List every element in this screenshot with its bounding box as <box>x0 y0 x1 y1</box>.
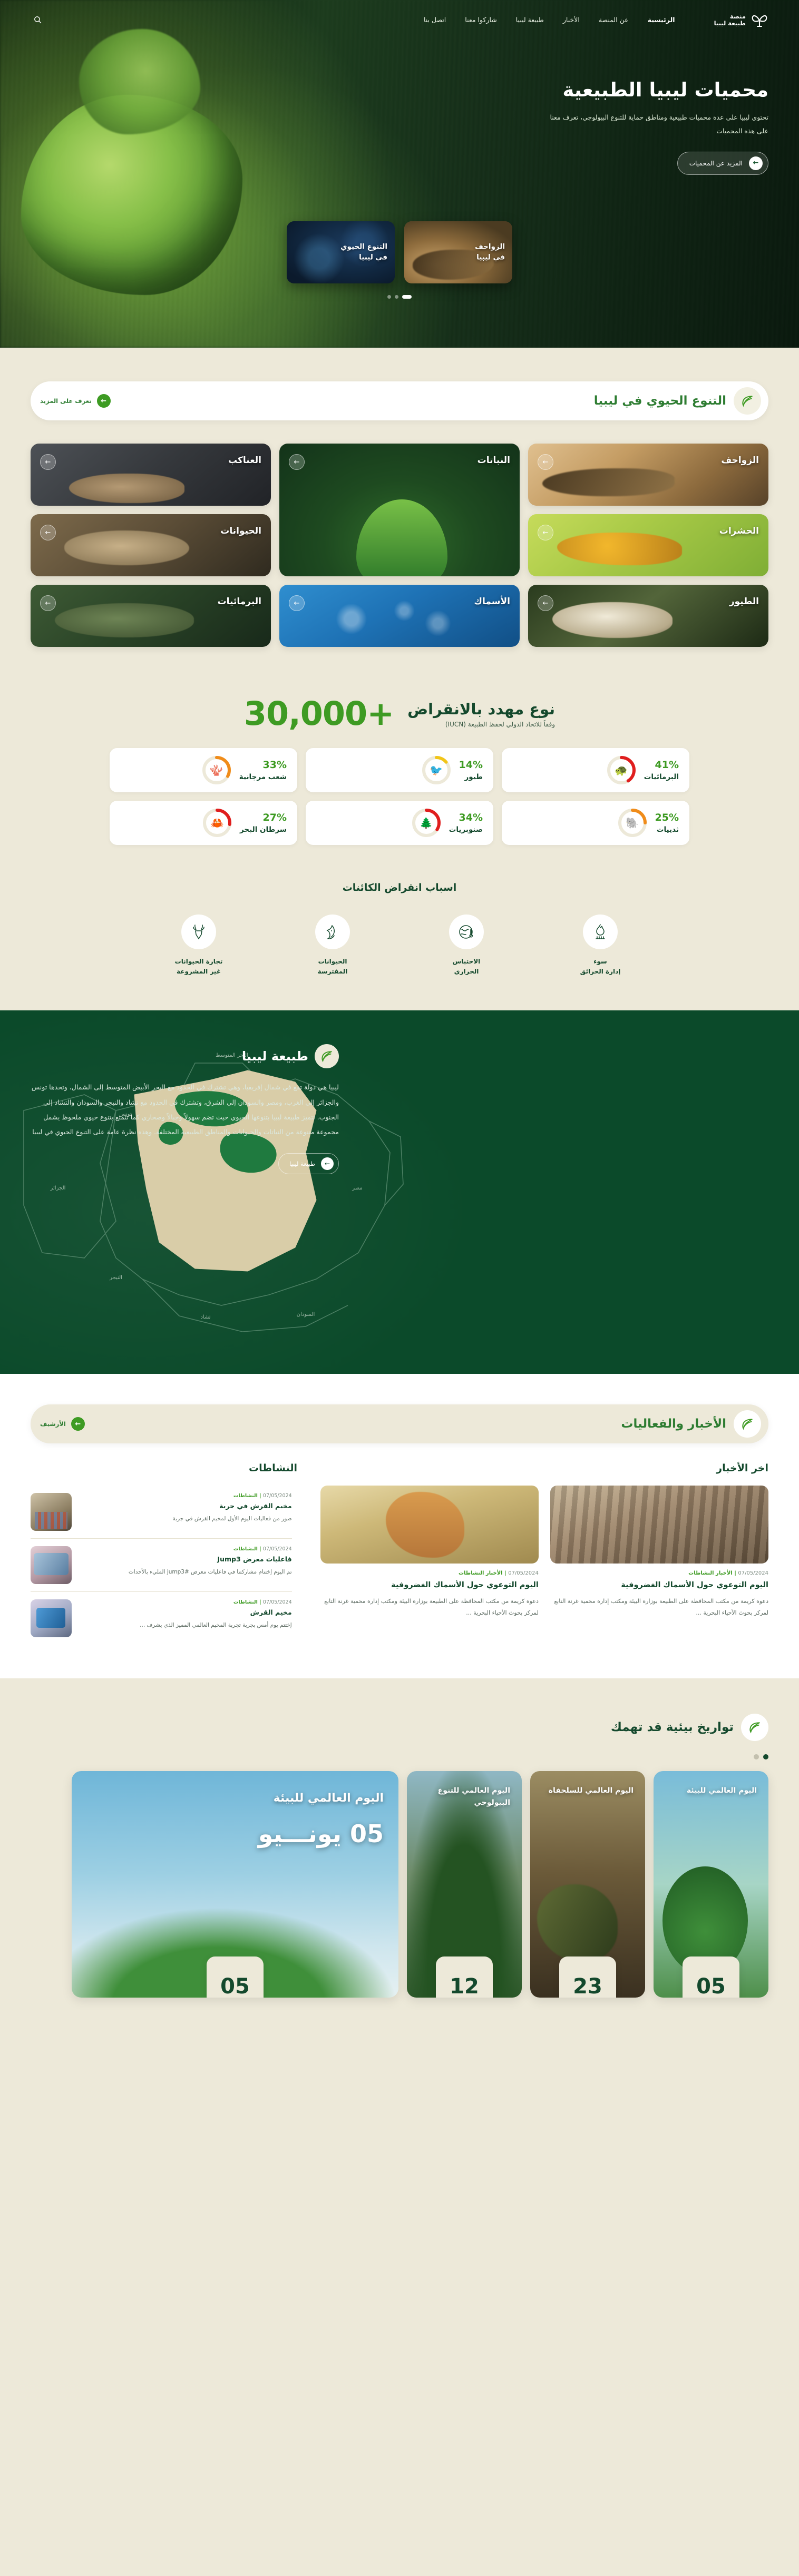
stat-pct-conifers: 34% <box>449 811 483 825</box>
map-label-egypt: مصر <box>352 1185 363 1191</box>
fire-icon <box>583 915 618 949</box>
stat-card-coral[interactable]: 🪸 33% شعب مرجانية <box>110 748 297 792</box>
news-title: الأخبار والفعاليات <box>621 1417 726 1431</box>
brand-text: منصة طبيعة ليبيا <box>714 13 746 27</box>
dates-title: تواريخ بيئية قد تهمك <box>611 1720 734 1734</box>
stat-label-coral: شعب مرجانية <box>239 772 287 782</box>
cause-fire-line1: سوء <box>593 958 607 965</box>
activity-item-2-body: 07/05/2024 | النشاطات فاعليات معرض Jump3… <box>79 1546 292 1584</box>
hero-card-reptiles-line2: في ليبيا <box>476 253 505 261</box>
map-label-niger: النيجر <box>109 1275 122 1281</box>
stat-text-mammals: 25% ثدييات <box>655 811 679 834</box>
bio-card-spiders-image <box>31 444 271 506</box>
news-archive-cta[interactable]: ← الأرشيف <box>40 1417 85 1431</box>
cause-illegal-trade[interactable]: تجارة الحيوانات غير المشروعة <box>159 915 238 977</box>
date-card-2-title: اليوم العالمي للتنوع البيولوجي <box>407 1785 510 1808</box>
arrow-left-icon[interactable]: ← <box>538 595 553 611</box>
bio-card-amphibians[interactable]: البرمائيات ← <box>31 585 271 647</box>
news-card-2[interactable]: 07/05/2024 | الأخبار النشاطات اليوم التو… <box>320 1486 539 1645</box>
news-cards: 07/05/2024 | الأخبار النشاطات اليوم التو… <box>320 1486 768 1645</box>
nav-item-participate[interactable]: شاركوا معنا <box>465 16 496 24</box>
extinction-causes-section: اسباب انقراض الكائنات سوء إدارة الحرائق <box>0 866 799 1010</box>
bio-card-spiders[interactable]: العناكب ← <box>31 444 271 506</box>
stat-text-conifers: 34% صنوبريات <box>449 811 483 834</box>
main-navigation: منصة طبيعة ليبيا الرئيسية عن المنصة الأخ… <box>0 0 799 40</box>
arrow-left-icon[interactable]: ← <box>538 525 553 540</box>
gauge-mammals: 🐘 <box>617 808 648 838</box>
cause-trade-line2: غير المشروعة <box>177 968 221 975</box>
bio-card-reptiles-image <box>528 444 768 506</box>
arrow-left-icon: ← <box>71 1417 85 1431</box>
stat-label-mammals: ثدييات <box>655 825 679 834</box>
news-card-1-category: الأخبار النشاطات <box>688 1570 733 1576</box>
dates-header-wrap: تواريخ بيئية قد تهمك <box>0 1708 799 1752</box>
biodiversity-cta-label: تعرف على المزيد <box>40 397 92 405</box>
leaf-icon <box>734 387 761 415</box>
date-card-2-day: 12 <box>450 1976 479 1997</box>
bio-card-birds[interactable]: الطيور ← <box>528 585 768 647</box>
hero-card-reptiles-label: الزواحف في ليبيا <box>475 242 505 262</box>
hero-subtitle: تحتوي ليبيا على عدة محميات طبيعية ومناطق… <box>542 111 768 137</box>
date-card-4-title: اليوم العالمي للبيئة <box>687 1785 757 1796</box>
stat-card-birds[interactable]: 🐦 14% طيور <box>306 748 493 792</box>
date-card-4-day: 05 <box>696 1976 726 1997</box>
map-label-chad: تشاد <box>200 1314 210 1320</box>
cause-trade-line1: تجارة الحيوانات <box>175 958 223 965</box>
environmental-dates-section: تواريخ بيئية قد تهمك اليوم العالمي للبيئ… <box>0 1678 799 2046</box>
cause-fire-line2: إدارة الحرائق <box>580 968 621 975</box>
bio-card-animals-image <box>31 514 271 576</box>
stat-pct-birds: 14% <box>459 759 483 772</box>
activity-item-2-title: فاعليات معرض Jump3 <box>79 1555 292 1564</box>
causes-title: اسباب انقراض الكائنات <box>31 882 768 893</box>
activity-item-1-body: 07/05/2024 | النشاطات مخيم القرش في جربة… <box>79 1493 292 1531</box>
biodiversity-title: التنوع الحيوي في ليبيا <box>594 394 726 408</box>
activity-item-2-meta: 07/05/2024 | النشاطات <box>79 1546 292 1552</box>
hero-card-reptiles[interactable]: الزواحف في ليبيا <box>404 221 512 283</box>
stat-label-conifers: صنوبريات <box>449 825 483 834</box>
hero-mini-cards: الزواحف في ليبيا التنوع الحيوي في ليبيا <box>287 221 512 283</box>
activity-item-1-date: 07/05/2024 <box>263 1493 292 1499</box>
cause-trade-label: تجارة الحيوانات غير المشروعة <box>175 957 223 977</box>
activity-item-2-date: 07/05/2024 <box>263 1546 292 1552</box>
bird-icon: 🐦 <box>421 755 452 785</box>
map-label-sudan: السودان <box>297 1312 315 1318</box>
news-col-latest: اخر الأخبار <box>311 1462 768 1474</box>
activity-item-3-category: النشاطات <box>233 1599 258 1605</box>
date-card-3[interactable]: اليوم العالمي للسلحفاة 23 مايو <box>530 1771 645 1998</box>
page-root: منصة طبيعة ليبيا الرئيسية عن المنصة الأخ… <box>0 0 799 2046</box>
hero-dot-1[interactable] <box>402 295 412 299</box>
nav-item-news[interactable]: الأخبار <box>563 16 580 24</box>
activity-item-3-thumbnail <box>31 1599 72 1637</box>
cause-predators-line1: الحيوانات <box>318 958 347 965</box>
activity-item-1-thumbnail <box>31 1493 72 1531</box>
news-card-2-meta: 07/05/2024 | الأخبار النشاطات <box>320 1570 539 1576</box>
stats-source-note: وفقاً للاتحاد الدولي لحفظ الطبيعة (IUCN) <box>407 721 555 728</box>
date-card-4-badge: 05 يونيو <box>683 1956 739 1998</box>
stat-text-coral: 33% شعب مرجانية <box>239 759 287 782</box>
bio-card-fish[interactable]: الأسماك ← <box>279 585 520 647</box>
biodiversity-cta[interactable]: ← تعرف على المزيد <box>40 394 111 408</box>
gauge-crabs: 🦀 <box>202 808 232 838</box>
stat-text-crabs: 27% سرطان البحر <box>240 811 287 834</box>
news-card-2-title: اليوم التوعوي حول الأسماك الغضروفية <box>320 1580 539 1591</box>
cause-warming-line2: الحراري <box>454 968 479 975</box>
nav-item-nature[interactable]: طبيعة ليبيا <box>516 16 544 24</box>
arrow-left-icon[interactable]: ← <box>40 595 56 611</box>
stat-label-amphibians: البرمائيات <box>644 772 679 782</box>
activity-item-3-body: 07/05/2024 | النشاطات مخيم القرش إختتم ي… <box>79 1599 292 1637</box>
activity-item-2-category: النشاطات <box>233 1546 258 1552</box>
dates-carousel-dots[interactable] <box>31 1754 768 1759</box>
date-card-1[interactable]: اليوم العالمي للبيئة 05 يونـــيو 05 يوني… <box>72 1771 398 1998</box>
date-card-3-badge: 23 مايو <box>559 1956 616 1998</box>
arrow-left-icon: ← <box>321 1157 334 1170</box>
dates-header: تواريخ بيئية قد تهمك <box>31 1708 768 1747</box>
biodiversity-grid: الزواحف ← الحشرات ← الطيور ← النباتات ← … <box>31 444 768 647</box>
bio-card-amphibians-image <box>31 585 271 647</box>
nature-cta-label: طبيعة ليبيا <box>289 1160 315 1167</box>
hero-title: محميات ليبيا الطبيعية <box>473 78 768 102</box>
shark-icon <box>315 915 350 949</box>
date-card-4[interactable]: اليوم العالمي للبيئة 05 يونيو <box>654 1771 768 1998</box>
bio-card-birds-image <box>528 585 768 647</box>
stat-pct-amphibians: 41% <box>644 759 679 772</box>
news-card-2-category: الأخبار النشاطات <box>459 1570 503 1576</box>
bio-card-reptiles[interactable]: الزواحف ← <box>528 444 768 506</box>
arrow-left-icon: ← <box>749 156 763 170</box>
endangered-stats-section: نوع مهدد بالانقراض وفقاً للاتحاد الدولي … <box>0 674 799 866</box>
stats-headline: نوع مهدد بالانقراض وفقاً للاتحاد الدولي … <box>31 697 768 730</box>
news-card-1-meta: 07/05/2024 | الأخبار النشاطات <box>550 1570 768 1576</box>
cause-warming-line1: الاحتباس <box>453 958 481 965</box>
hero-leaf-decoration-secondary <box>79 29 200 134</box>
dates-dot-1[interactable] <box>763 1754 768 1759</box>
bio-card-animals[interactable]: الحيوانات ← <box>31 514 271 576</box>
bio-card-insects[interactable]: الحشرات ← <box>528 514 768 576</box>
stat-text-birds: 14% طيور <box>459 759 483 782</box>
date-card-1-day-large: 05 يونـــيو <box>258 1820 384 1848</box>
news-card-1-excerpt: دعوة كريمة من مكتب المحافظة على الطبيعة … <box>550 1596 768 1618</box>
bio-card-plants-label: النباتات <box>478 455 510 466</box>
arrow-left-icon: ← <box>97 394 111 408</box>
biodiversity-section: التنوع الحيوي في ليبيا ← تعرف على المزيد… <box>0 348 799 674</box>
bio-card-fish-image <box>279 585 520 647</box>
stat-card-conifers[interactable]: 🌲 34% صنوبريات <box>306 801 493 845</box>
stat-card-mammals[interactable]: 🐘 25% ثدييات <box>502 801 689 845</box>
stat-card-crabs[interactable]: 🦀 27% سرطان البحر <box>110 801 297 845</box>
hero-dot-3[interactable] <box>387 295 391 299</box>
cause-predators-label: الحيوانات المفترسة <box>318 957 348 977</box>
date-card-3-day: 23 <box>573 1976 602 1997</box>
stats-big-number: +30,000 <box>244 697 394 730</box>
frog-icon: 🐢 <box>606 755 637 785</box>
news-card-1-title: اليوم التوعوي حول الأسماك الغضروفية <box>550 1580 768 1591</box>
gauge-conifers: 🌲 <box>411 808 442 838</box>
cause-global-warming[interactable]: الاحتباس الحراري <box>427 915 506 977</box>
bio-card-plants[interactable]: النباتات ← <box>279 444 520 576</box>
bio-card-reptiles-label: الزواحف <box>721 455 759 466</box>
map-label-algeria: الجزائر <box>50 1185 66 1191</box>
stat-text-amphibians: 41% البرمائيات <box>644 759 679 782</box>
arrow-left-icon[interactable]: ← <box>289 595 305 611</box>
news-col-activities: النشاطات <box>31 1462 311 1474</box>
activity-item-3-date: 07/05/2024 <box>263 1599 292 1605</box>
arrow-left-icon[interactable]: ← <box>289 454 305 470</box>
bio-card-spiders-label: العناكب <box>228 455 261 466</box>
causes-row: سوء إدارة الحرائق الاحتباس الحراري <box>31 915 768 977</box>
activity-item-3-title: مخيم القرش <box>79 1608 292 1617</box>
activity-item-1-excerpt: صور من فعاليات اليوم الأول لمخيم القرش ف… <box>79 1514 292 1524</box>
stat-label-crabs: سرطان البحر <box>240 825 287 834</box>
hero-dot-2[interactable] <box>395 295 398 299</box>
news-card-1[interactable]: 07/05/2024 | الأخبار النشاطات اليوم التو… <box>550 1486 768 1645</box>
cause-fire-management[interactable]: سوء إدارة الحرائق <box>561 915 640 977</box>
butterfly-logo-icon <box>751 12 768 28</box>
coral-icon: 🪸 <box>201 755 232 785</box>
conifer-icon: 🌲 <box>411 808 442 838</box>
gauge-coral: 🪸 <box>201 755 232 785</box>
news-card-2-date: 07/05/2024 <box>508 1570 539 1576</box>
arrow-left-icon[interactable]: ← <box>538 454 553 470</box>
brand-line-2: طبيعة ليبيا <box>714 19 746 27</box>
news-section: الأخبار والفعاليات ← الأرشيف اخر الأخبار… <box>0 1374 799 1678</box>
activity-item-1[interactable]: 07/05/2024 | النشاطات مخيم القرش في جربة… <box>31 1486 292 1539</box>
news-col-latest-title: اخر الأخبار <box>716 1462 768 1474</box>
hero-section: منصة طبيعة ليبيا الرئيسية عن المنصة الأخ… <box>0 0 799 348</box>
gauge-amphibians: 🐢 <box>606 755 637 785</box>
activity-item-2-excerpt: تم اليوم إختتام مشاركتنا في فاعليات معرض… <box>79 1567 292 1577</box>
bio-card-animals-label: الحيوانات <box>220 526 261 536</box>
nature-body-text: ليبيا هي دولة تقع في شمال إفريقيا، وهي ت… <box>31 1080 339 1139</box>
hero-card-bio-line2: في ليبيا <box>359 253 387 261</box>
news-card-1-date: 07/05/2024 <box>738 1570 768 1576</box>
news-col-activities-title: النشاطات <box>249 1462 297 1474</box>
libya-nature-section: البحر المتوسط مصر تونس الجزائر النيجر تش… <box>0 1010 799 1374</box>
leaf-icon <box>734 1410 761 1438</box>
antlers-icon <box>181 915 216 949</box>
stats-grid: 🐢 41% البرمائيات 🐦 14% طيور <box>110 748 689 845</box>
mammal-icon: 🐘 <box>617 808 648 838</box>
activity-item-3[interactable]: 07/05/2024 | النشاطات مخيم القرش إختتم ي… <box>31 1592 292 1645</box>
stat-label-birds: طيور <box>459 772 483 782</box>
stat-card-amphibians[interactable]: 🐢 41% البرمائيات <box>502 748 689 792</box>
hero-copy: محميات ليبيا الطبيعية تحتوي ليبيا على عد… <box>473 78 768 175</box>
hero-card-reptiles-line1: الزواحف <box>475 242 505 251</box>
activity-item-2-thumbnail <box>31 1546 72 1584</box>
activity-item-1-category: النشاطات <box>233 1493 258 1499</box>
dates-dot-2[interactable] <box>754 1754 759 1759</box>
dates-strip: اليوم العالمي للبيئة 05 يونيو اليوم العا… <box>0 1771 799 1998</box>
crab-icon: 🦀 <box>202 808 232 838</box>
date-card-2-badge: 12 مايو <box>436 1956 493 1998</box>
date-card-1-day: 05 <box>220 1976 250 1997</box>
nav-item-contact[interactable]: اتصل بنا <box>424 16 446 24</box>
activity-item-3-meta: 07/05/2024 | النشاطات <box>79 1599 292 1605</box>
stat-pct-mammals: 25% <box>655 811 679 825</box>
cause-fire-label: سوء إدارة الحرائق <box>580 957 621 977</box>
news-header: الأخبار والفعاليات ← الأرشيف <box>31 1404 768 1443</box>
activity-item-3-excerpt: إختتم يوم أمس بجربة تجربة المخيم العالمي… <box>79 1620 292 1630</box>
news-column-titles: اخر الأخبار النشاطات <box>31 1462 768 1474</box>
activity-item-1-title: مخيم القرش في جربة <box>79 1501 292 1511</box>
nav-item-about[interactable]: عن المنصة <box>599 16 629 24</box>
news-body: 07/05/2024 | الأخبار النشاطات اليوم التو… <box>31 1486 768 1645</box>
hero-carousel-dots[interactable] <box>387 295 412 299</box>
nav-links: الرئيسية عن المنصة الأخبار طبيعة ليبيا ش… <box>424 16 675 24</box>
cause-predators-line2: المفترسة <box>318 968 348 975</box>
bio-card-insects-image <box>528 514 768 576</box>
date-card-3-title: اليوم العالمي للسلحفاة <box>549 1785 634 1796</box>
hero-cta-label: المزيد عن المحميات <box>689 160 743 167</box>
hero-card-biodiversity[interactable]: التنوع الحيوي في ليبيا <box>287 221 395 283</box>
activity-item-2[interactable]: 07/05/2024 | النشاطات فاعليات معرض Jump3… <box>31 1539 292 1592</box>
date-card-2[interactable]: اليوم العالمي للتنوع البيولوجي 12 مايو <box>407 1771 522 1998</box>
date-card-1-title: اليوم العالمي للبيئة <box>274 1789 384 1807</box>
nav-item-home[interactable]: الرئيسية <box>648 16 675 24</box>
activity-item-1-meta: 07/05/2024 | النشاطات <box>79 1493 292 1499</box>
brand-logo[interactable]: منصة طبيعة ليبيا <box>714 12 768 28</box>
biodiversity-header: التنوع الحيوي في ليبيا ← تعرف على المزيد <box>31 381 768 420</box>
nature-header: طبيعة ليبيا <box>31 1044 339 1068</box>
nature-title: طبيعة ليبيا <box>242 1049 308 1064</box>
cause-warming-label: الاحتباس الحراري <box>453 957 481 977</box>
leaf-icon <box>315 1044 339 1068</box>
nature-cta-button[interactable]: ← طبيعة ليبيا <box>278 1153 339 1174</box>
arrow-left-icon[interactable]: ← <box>40 454 56 470</box>
date-card-1-badge: 05 يونيو <box>207 1956 264 1998</box>
stats-headline-text: نوع مهدد بالانقراض وفقاً للاتحاد الدولي … <box>407 700 555 728</box>
stat-pct-coral: 33% <box>239 759 287 772</box>
hero-card-biodiversity-label: التنوع الحيوي في ليبيا <box>340 242 387 262</box>
hero-card-bio-line1: التنوع الحيوي <box>340 242 387 251</box>
hero-cta-button[interactable]: ← المزيد عن المحميات <box>677 152 768 175</box>
arrow-left-icon[interactable]: ← <box>40 525 56 540</box>
activities-list: 07/05/2024 | النشاطات مخيم القرش في جربة… <box>31 1486 306 1645</box>
bio-card-amphibians-label: البرمائيات <box>218 596 261 607</box>
bio-card-birds-label: الطيور <box>729 596 759 607</box>
bio-card-fish-label: الأسماك <box>474 596 510 607</box>
globe-thermometer-icon <box>449 915 484 949</box>
cause-predators[interactable]: الحيوانات المفترسة <box>293 915 372 977</box>
news-card-2-image <box>320 1486 539 1564</box>
leaf-icon <box>741 1714 768 1741</box>
stat-pct-crabs: 27% <box>240 811 287 825</box>
nature-copy: طبيعة ليبيا ليبيا هي دولة تقع في شمال إف… <box>31 1044 339 1174</box>
news-card-1-image <box>550 1486 768 1564</box>
news-card-2-excerpt: دعوة كريمة من مكتب المحافظة على الطبيعة … <box>320 1596 539 1618</box>
news-archive-label: الأرشيف <box>40 1420 66 1428</box>
bio-card-insects-label: الحشرات <box>719 526 759 536</box>
stats-headline-title: نوع مهدد بالانقراض <box>407 700 555 718</box>
gauge-birds: 🐦 <box>421 755 452 785</box>
search-icon[interactable] <box>31 13 44 27</box>
